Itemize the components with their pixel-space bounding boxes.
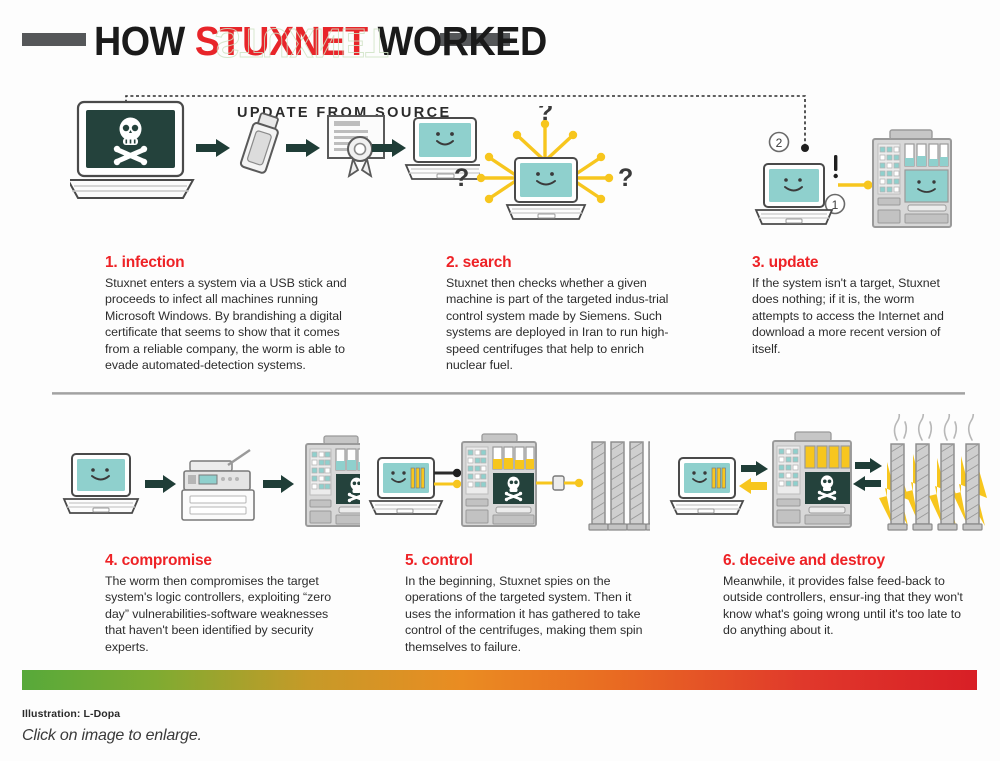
step-3-body: If the system isn't a target, Stuxnet do… bbox=[752, 275, 962, 357]
step-3-copy: 3. update If the system isn't a target, … bbox=[752, 254, 962, 357]
enlarge-hint[interactable]: Click on image to enlarge. bbox=[22, 727, 202, 745]
title-word-how: HOW bbox=[94, 18, 195, 64]
laptop-clean-icon bbox=[64, 454, 138, 513]
arrow-left-icon bbox=[739, 478, 767, 494]
control-cabinet-infected-icon bbox=[773, 432, 851, 527]
step-4-body: The worm then compromises the target sys… bbox=[105, 573, 345, 655]
marker-two-icon: 2 bbox=[770, 133, 789, 152]
step-2-body: Stuxnet then checks whether a given mach… bbox=[446, 275, 670, 373]
laptop-infected-icon bbox=[70, 102, 193, 198]
control-cabinet-infected-icon bbox=[306, 436, 360, 526]
step-5-body: In the beginning, Stuxnet spies on the o… bbox=[405, 573, 655, 655]
svg-text:?: ? bbox=[538, 106, 553, 126]
arrow-right-icon bbox=[196, 139, 230, 157]
steps-row-bottom: 4. compromise The worm then compromises … bbox=[0, 404, 1000, 674]
laptop-monitor-icon bbox=[370, 458, 442, 514]
control-cabinet-icon bbox=[873, 130, 951, 227]
arrow-right-icon bbox=[263, 475, 294, 493]
step-6-title: 6. deceive and destroy bbox=[723, 552, 973, 570]
step-5-title: 5. control bbox=[405, 552, 655, 570]
step-5-illustration bbox=[360, 426, 650, 551]
step-4-title: 4. compromise bbox=[105, 552, 345, 570]
alert-icon bbox=[834, 155, 838, 178]
step-1-illustration bbox=[70, 96, 390, 246]
step-6-body: Meanwhile, it provides false feed-back t… bbox=[723, 573, 973, 639]
arrow-right-icon bbox=[145, 475, 176, 493]
laptop-clean-icon bbox=[507, 158, 585, 219]
step-4-illustration bbox=[60, 430, 360, 550]
gauge-bars bbox=[336, 449, 360, 470]
infographic-root: HOW STUXNET WORKED STUXNET UPDATE FROM S… bbox=[0, 0, 1000, 761]
arrow-right-icon bbox=[372, 139, 406, 157]
svg-text:2: 2 bbox=[776, 136, 783, 150]
title-word-worked: WORKED bbox=[368, 18, 547, 64]
gauge-bars bbox=[493, 447, 534, 469]
gauge-bars bbox=[805, 446, 850, 468]
steps-row-top: 1. infection Stuxnet enters a system via… bbox=[0, 96, 1000, 386]
page-title: HOW STUXNET WORKED STUXNET bbox=[0, 22, 1000, 68]
step-6-illustration bbox=[665, 414, 990, 554]
gauge-bars bbox=[905, 144, 948, 166]
svg-text:?: ? bbox=[454, 164, 469, 192]
centrifuges-icon bbox=[589, 442, 650, 530]
step-4-copy: 4. compromise The worm then compromises … bbox=[105, 552, 345, 655]
arrow-left-icon bbox=[853, 476, 881, 491]
data-cables bbox=[434, 469, 461, 488]
step-2-title: 2. search bbox=[446, 254, 670, 272]
yellow-connector bbox=[536, 476, 583, 490]
arrow-right-icon bbox=[855, 458, 882, 473]
section-divider bbox=[52, 392, 965, 395]
title-left-bar bbox=[22, 33, 86, 46]
arrow-right-icon bbox=[741, 461, 768, 476]
yellow-link bbox=[838, 181, 873, 190]
step-1-body: Stuxnet enters a system via a USB stick … bbox=[105, 275, 357, 373]
usb-stick-icon bbox=[240, 112, 282, 174]
step-6-copy: 6. deceive and destroy Meanwhile, it pro… bbox=[723, 552, 973, 639]
laptop-monitor-icon bbox=[671, 458, 743, 514]
step-1-copy: 1. infection Stuxnet enters a system via… bbox=[105, 254, 357, 373]
control-cabinet-infected-icon bbox=[462, 434, 536, 526]
step-3-title: 3. update bbox=[752, 254, 962, 272]
step-5-copy: 5. control In the beginning, Stuxnet spi… bbox=[405, 552, 655, 655]
illustration-credit: Illustration: L-Dopa bbox=[22, 708, 120, 720]
step-2-copy: 2. search Stuxnet then checks whether a … bbox=[446, 254, 670, 373]
step-3-illustration: 2 1 bbox=[740, 106, 980, 246]
step-2-illustration: ??? bbox=[420, 106, 670, 246]
step-1-title: 1. infection bbox=[105, 254, 357, 272]
laptop-clean-icon bbox=[756, 164, 832, 224]
title-ghost-reflection: STUXNET bbox=[215, 19, 388, 66]
plc-programmer-icon bbox=[182, 450, 254, 520]
svg-text:?: ? bbox=[618, 164, 633, 192]
centrifuges-burning-icon bbox=[888, 444, 982, 530]
arrow-right-icon bbox=[286, 139, 320, 157]
severity-gradient-bar bbox=[22, 670, 977, 690]
smoke-icon bbox=[895, 414, 974, 440]
